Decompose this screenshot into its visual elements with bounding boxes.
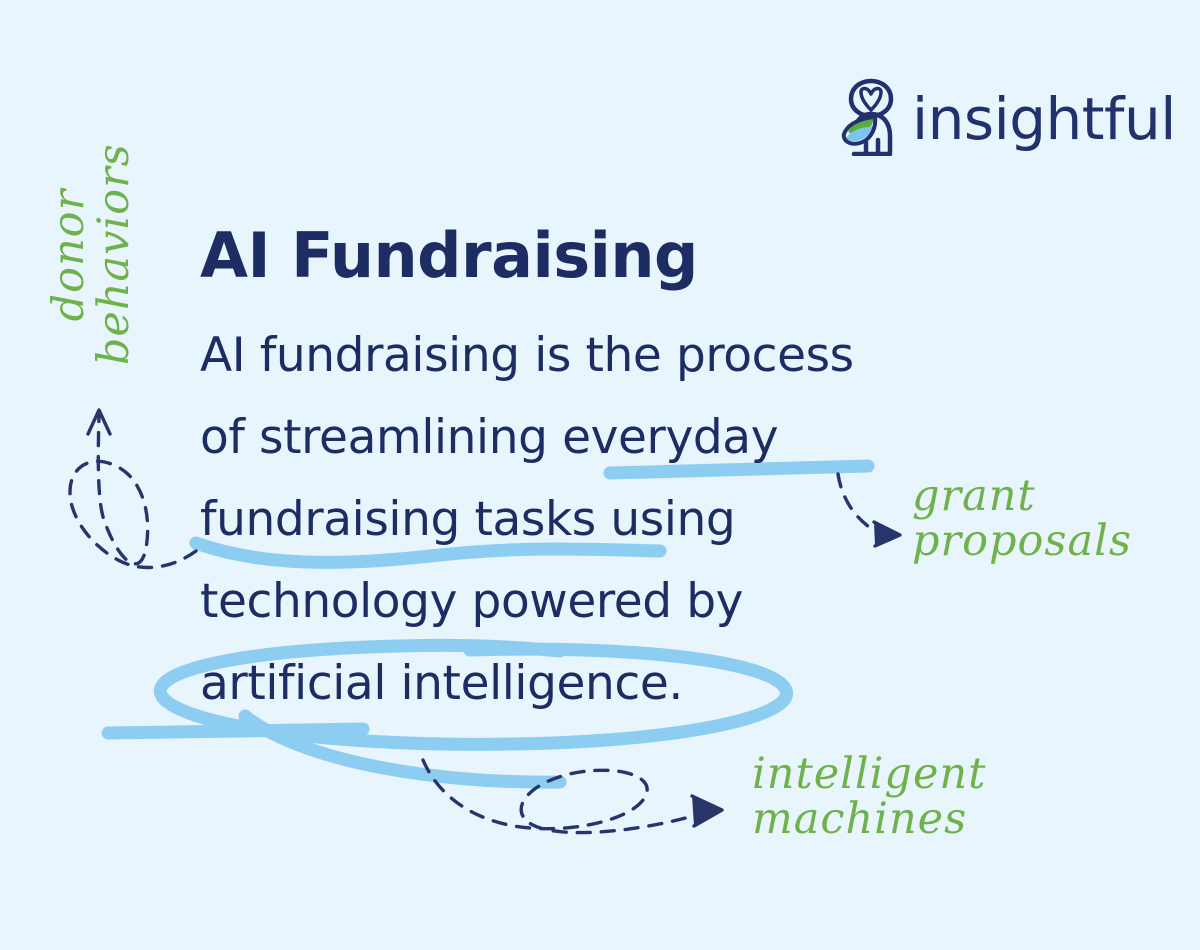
body-line-3: fundraising tasks using (200, 479, 1020, 561)
body-line-2: of streamlining everyday (200, 397, 1020, 479)
page-title: AI Fundraising (200, 225, 698, 287)
infographic-canvas: insightful AI Fundraising AI fundraising… (0, 0, 1200, 950)
body-copy: AI fundraising is the process of streaml… (200, 315, 1020, 725)
tail-stroke-left-mark (108, 729, 363, 733)
annotation-grant-proposals: grant proposals (912, 474, 1132, 564)
owl-logo-icon (840, 76, 902, 156)
body-line-5: artificial intelligence. (200, 643, 1020, 725)
insightful-logo[interactable]: insightful (840, 72, 1130, 160)
body-line-4: technology powered by (200, 561, 1020, 643)
annotation-donor-behaviors: donor behaviors (47, 145, 137, 365)
arrow-to-intelligent-machines (423, 760, 722, 833)
annotation-intelligent-machines: intelligent machines (752, 752, 986, 842)
body-line-1: AI fundraising is the process (200, 315, 1020, 397)
logo-wordmark: insightful (912, 90, 1176, 148)
arrow-to-donor-behaviors (70, 410, 196, 567)
ellipse-tail-stroke (245, 716, 560, 782)
